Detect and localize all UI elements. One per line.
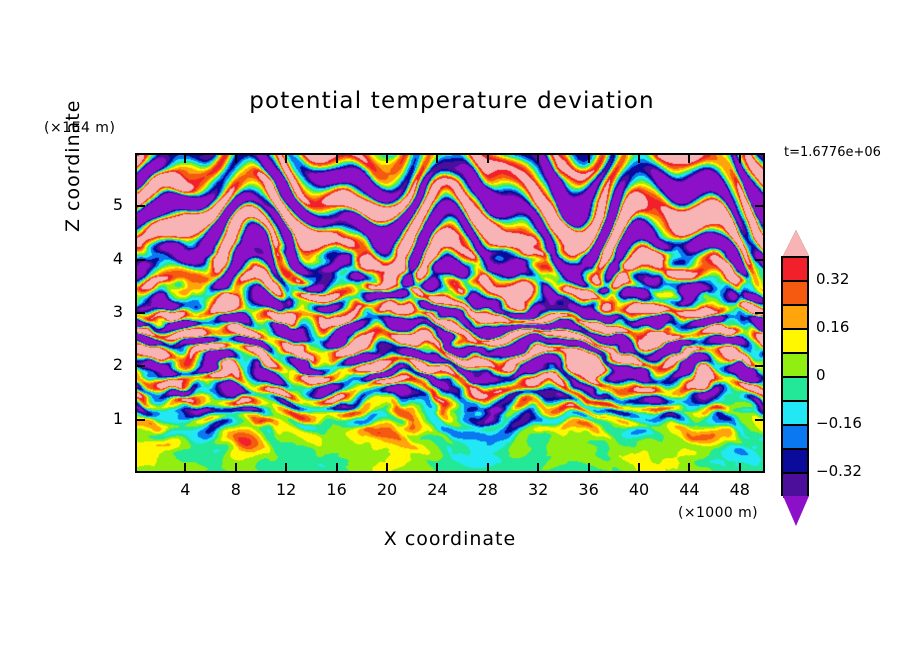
x-tick-label: 36 (569, 480, 609, 499)
contour-plot-area (135, 153, 765, 473)
y-tick-label: 2 (93, 355, 123, 374)
x-tick-bottom (386, 463, 388, 473)
y-tick-left (135, 312, 145, 314)
x-tick-bottom (184, 463, 186, 473)
colorbar-band (783, 330, 807, 354)
y-axis-title: Z coordinate (62, 72, 84, 232)
x-tick-top (638, 153, 640, 163)
x-tick-bottom (688, 463, 690, 473)
x-tick-top (739, 153, 741, 163)
x-tick-bottom (739, 463, 741, 473)
x-tick-label: 20 (367, 480, 407, 499)
x-tick-label: 32 (518, 480, 558, 499)
colorbar-band (783, 282, 807, 306)
x-tick-bottom (336, 463, 338, 473)
y-tick-left (135, 365, 145, 367)
colorbar-band (783, 258, 807, 282)
colorbar-under-arrow (783, 496, 809, 526)
x-axis-unit-label: (×1000 m) (678, 505, 758, 521)
y-tick-right (755, 312, 765, 314)
colorbar-tick-label: 0.16 (816, 318, 849, 336)
x-tick-bottom (285, 463, 287, 473)
figure-canvas: potential temperature deviation (×1E4 m)… (0, 0, 904, 654)
colorbar-band (783, 474, 807, 498)
x-axis-title: X coordinate (135, 528, 765, 550)
x-tick-bottom (436, 463, 438, 473)
x-tick-top (588, 153, 590, 163)
contour-field (137, 155, 763, 471)
colorbar-tick-label: 0.32 (816, 270, 849, 288)
y-tick-left (135, 419, 145, 421)
colorbar-band (783, 450, 807, 474)
x-tick-top (184, 153, 186, 163)
x-tick-label: 44 (669, 480, 709, 499)
y-tick-label: 4 (93, 249, 123, 268)
y-tick-label: 1 (93, 409, 123, 428)
x-tick-label: 4 (165, 480, 205, 499)
colorbar-band (783, 354, 807, 378)
y-tick-left (135, 205, 145, 207)
y-tick-left (135, 259, 145, 261)
y-tick-label: 5 (93, 195, 123, 214)
x-tick-bottom (487, 463, 489, 473)
y-tick-right (755, 259, 765, 261)
page-title: potential temperature deviation (0, 88, 904, 114)
y-tick-right (755, 205, 765, 207)
colorbar-band (783, 402, 807, 426)
colorbar-bands (781, 256, 809, 496)
y-tick-right (755, 419, 765, 421)
colorbar-tick-label: −0.16 (816, 414, 862, 432)
x-tick-label: 40 (619, 480, 659, 499)
x-tick-top (285, 153, 287, 163)
x-tick-label: 16 (317, 480, 357, 499)
x-tick-top (537, 153, 539, 163)
colorbar-over-arrow (783, 230, 809, 256)
colorbar-tick-label: 0 (816, 366, 826, 384)
x-tick-label: 28 (468, 480, 508, 499)
x-tick-top (336, 153, 338, 163)
x-tick-label: 48 (720, 480, 760, 499)
colorbar-band (783, 426, 807, 450)
x-tick-top (436, 153, 438, 163)
x-tick-label: 8 (216, 480, 256, 499)
x-tick-top (688, 153, 690, 163)
x-tick-bottom (235, 463, 237, 473)
colorbar-tick-label: −0.32 (816, 462, 862, 480)
x-tick-label: 24 (417, 480, 457, 499)
x-tick-top (487, 153, 489, 163)
x-tick-bottom (638, 463, 640, 473)
y-tick-label: 3 (93, 302, 123, 321)
x-tick-bottom (588, 463, 590, 473)
colorbar: 0.320.160−0.16−0.32 (780, 228, 812, 528)
colorbar-band (783, 378, 807, 402)
x-tick-bottom (537, 463, 539, 473)
x-tick-top (386, 153, 388, 163)
x-tick-label: 12 (266, 480, 306, 499)
y-tick-right (755, 365, 765, 367)
x-tick-top (235, 153, 237, 163)
colorbar-band (783, 306, 807, 330)
time-annotation: t=1.6776e+06 (784, 145, 881, 160)
